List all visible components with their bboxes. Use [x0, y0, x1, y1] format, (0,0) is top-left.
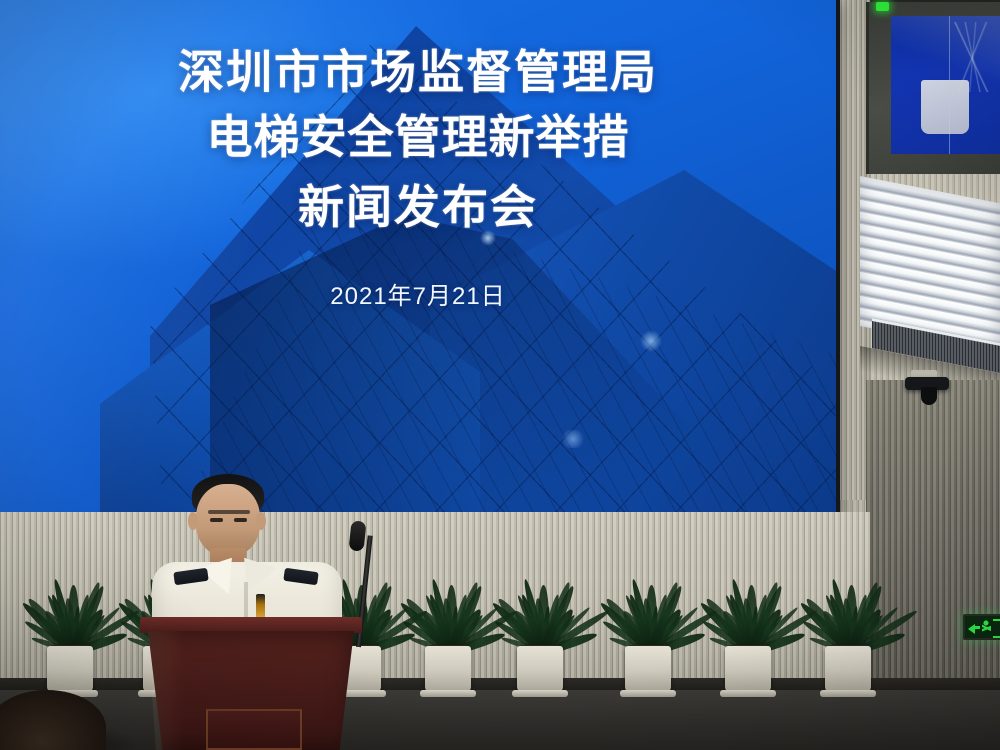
- slide-date: 2021年7月21日: [330, 276, 505, 311]
- window-reflection: [891, 16, 1000, 154]
- slide-title-line-3: 新闻发布会: [298, 175, 538, 240]
- presenter-brow: [208, 510, 250, 514]
- plant-leaves: [800, 540, 896, 652]
- presenter-eye-right: [234, 518, 247, 522]
- podium-top-surface: [140, 617, 362, 633]
- microphone-head: [348, 520, 366, 551]
- podium-inset-panel: [206, 709, 302, 750]
- potted-plant: [492, 542, 588, 692]
- photo-scene: 深圳市市场监督管理局 电梯安全管理新举措 新闻发布会 2021年7月21日: [0, 0, 1000, 750]
- emergency-exit-sign: [963, 614, 1000, 640]
- plant-leaves: [700, 540, 796, 652]
- plant-pot: [425, 646, 471, 692]
- presenter-badge: [256, 594, 265, 618]
- running-man-icon: [982, 620, 991, 637]
- potted-plant: [800, 542, 896, 692]
- slide-text-block: 深圳市市场监督管理局 电梯安全管理新举措 新闻发布会 2021年7月21日: [0, 0, 836, 512]
- plant-pot: [825, 646, 871, 692]
- window-glass: [891, 16, 1000, 154]
- exit-arrow-tail: [974, 626, 980, 629]
- presenter-ear-right: [256, 512, 266, 530]
- exit-door-icon: [993, 619, 1000, 638]
- plant-pot: [47, 646, 93, 692]
- podium-highlight: [148, 631, 184, 750]
- camera-lens: [921, 387, 937, 405]
- plant-pot: [517, 646, 563, 692]
- potted-plant: [600, 542, 696, 692]
- potted-plant: [22, 542, 118, 692]
- slide-title-line-2: 电梯安全管理新举措: [207, 105, 630, 170]
- presenter-eye-left: [210, 518, 223, 522]
- plant-leaves: [600, 540, 696, 652]
- presenter-head: [196, 484, 260, 556]
- plant-pot: [625, 646, 671, 692]
- plant-leaves: [400, 540, 496, 652]
- slide-title-line-1: 深圳市市场监督管理局: [178, 40, 658, 105]
- plant-leaves: [22, 540, 118, 652]
- glass-window-panel: [866, 2, 1000, 174]
- speaker-podium: [140, 617, 362, 750]
- plant-leaves: [492, 540, 588, 652]
- potted-plant: [400, 542, 496, 692]
- security-camera-icon: [905, 370, 951, 410]
- potted-plant: [700, 542, 796, 692]
- presenter-ear-left: [188, 512, 198, 530]
- green-status-led: [876, 2, 889, 11]
- plant-pot: [725, 646, 771, 692]
- led-screen: 深圳市市场监督管理局 电梯安全管理新举措 新闻发布会 2021年7月21日: [0, 0, 836, 512]
